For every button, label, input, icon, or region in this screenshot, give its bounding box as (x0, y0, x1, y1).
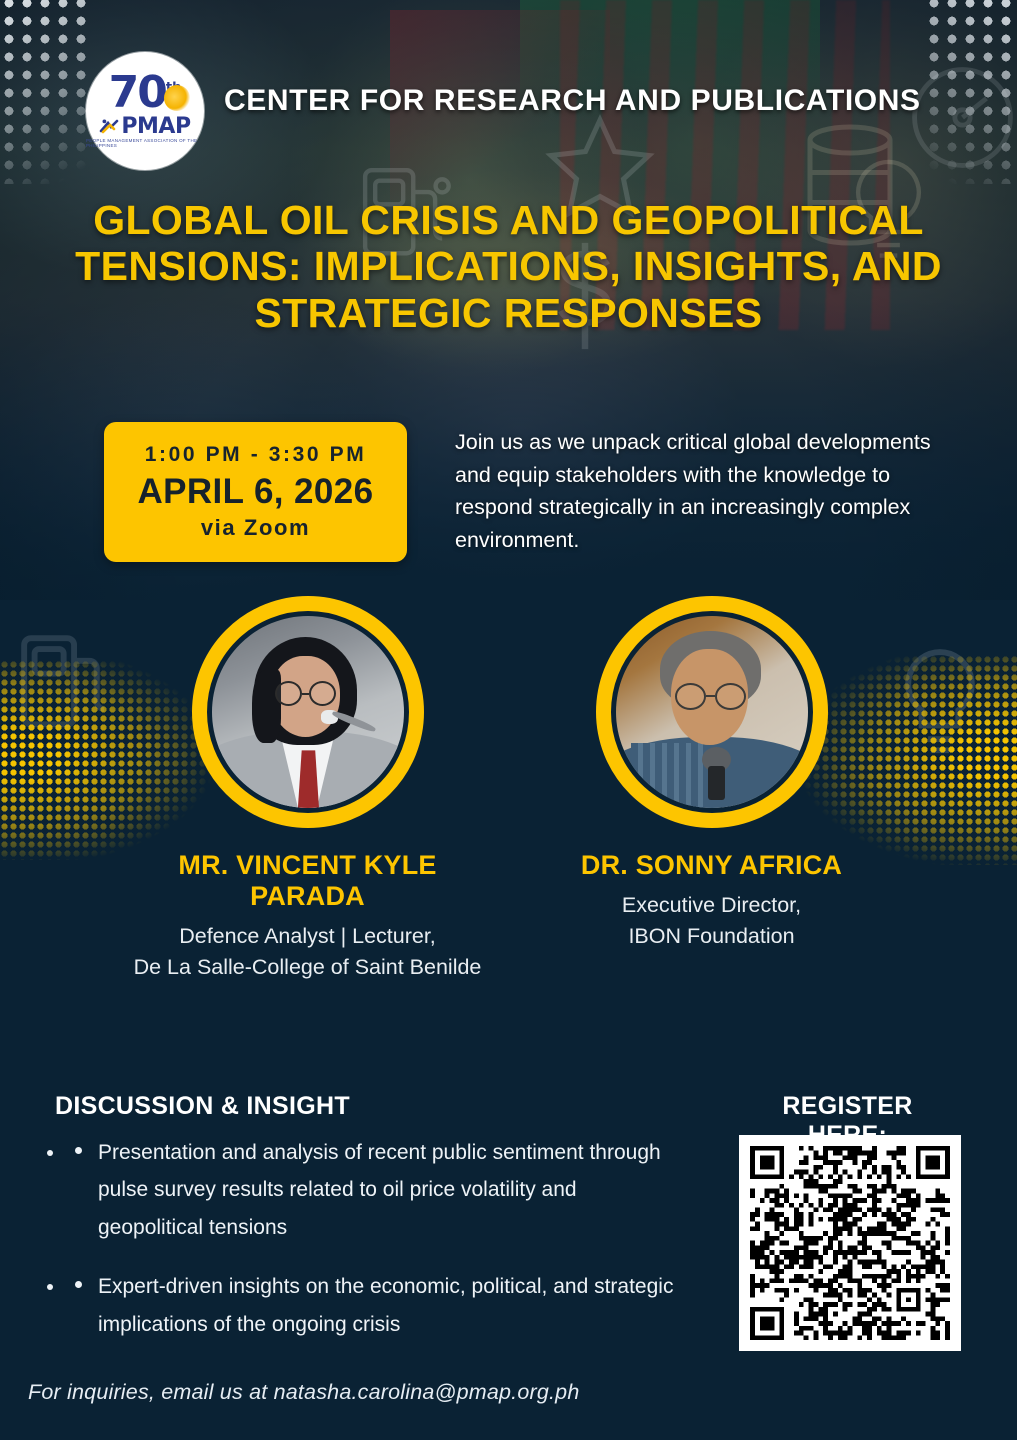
list-item: Presentation and analysis of recent publ… (66, 1134, 678, 1246)
event-poster: 70th PMAP PEOPLE MANAGEMENT ASSOCIATION … (0, 0, 1017, 1440)
pmap-people-icon (99, 118, 119, 135)
speaker-name: DR. SONNY AFRICA (524, 850, 899, 881)
header-title: CENTER FOR RESEARCH AND PUBLICATIONS (224, 84, 944, 118)
anniversary-mark: 70th (109, 74, 182, 113)
page-title: GLOBAL OIL CRISIS AND GEOPOLITICAL TENSI… (50, 197, 967, 336)
list-item: Expert-driven insights on the economic, … (66, 1268, 678, 1343)
qr-code[interactable] (750, 1146, 950, 1340)
event-description: Join us as we unpack critical global dev… (455, 426, 955, 557)
fuel-pump-icon (5, 620, 125, 738)
speaker-role: Defence Analyst | Lecturer, De La Salle-… (120, 921, 495, 983)
speaker-card: MR. VINCENT KYLE PARADA Defence Analyst … (120, 596, 495, 983)
pmap-tagline: PEOPLE MANAGEMENT ASSOCIATION OF THE PHI… (86, 138, 204, 148)
speaker-role: Executive Director, IBON Foundation (524, 890, 899, 952)
speaker-avatar (192, 596, 424, 828)
discussion-heading: DISCUSSION & INSIGHT (55, 1092, 350, 1121)
light-bulb-icon (885, 640, 995, 765)
event-time: 1:00 PM - 3:30 PM (145, 443, 367, 467)
discussion-list: Presentation and analysis of recent publ… (66, 1134, 678, 1365)
contact-footer: For inquiries, email us at natasha.carol… (28, 1380, 580, 1405)
speaker-role-line-2: IBON Foundation (524, 921, 899, 952)
event-venue: via Zoom (201, 515, 310, 541)
speaker-avatar (596, 596, 828, 828)
event-date: APRIL 6, 2026 (137, 472, 373, 512)
pmap-logo: 70th PMAP PEOPLE MANAGEMENT ASSOCIATION … (86, 52, 204, 170)
poster-header: 70th PMAP PEOPLE MANAGEMENT ASSOCIATION … (0, 0, 1017, 195)
speaker-role-line-1: Defence Analyst | Lecturer, (120, 921, 495, 952)
event-date-card: 1:00 PM - 3:30 PM APRIL 6, 2026 via Zoom (104, 422, 407, 562)
speaker-role-line-2: De La Salle-College of Saint Benilde (120, 952, 495, 983)
qr-code-container[interactable] (739, 1135, 961, 1351)
speaker-name: MR. VINCENT KYLE PARADA (120, 850, 495, 912)
speaker-role-line-1: Executive Director, (524, 890, 899, 921)
speaker-card: DR. SONNY AFRICA Executive Director, IBO… (524, 596, 899, 952)
logo-swoosh (164, 85, 190, 111)
anniversary-number: 70 (109, 67, 166, 118)
